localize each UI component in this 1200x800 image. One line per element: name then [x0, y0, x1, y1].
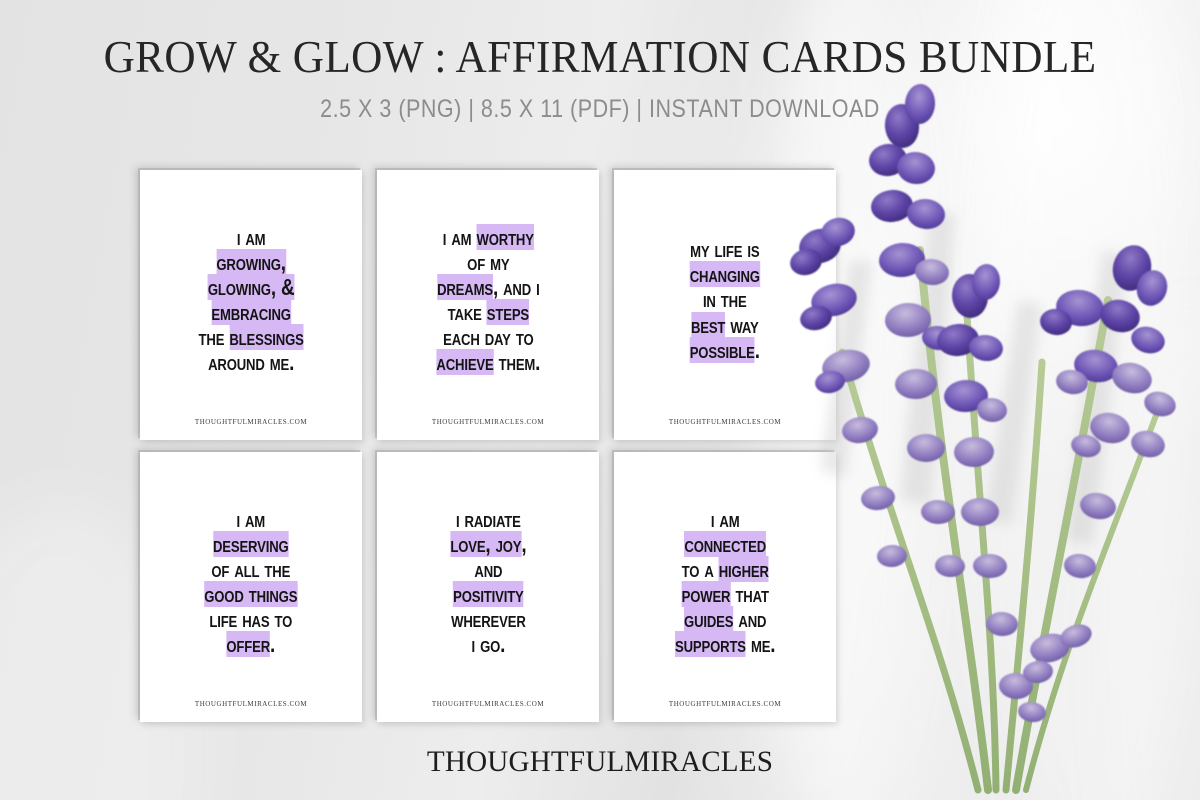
text-phrase: to a — [681, 556, 718, 582]
card-text-line: I am — [675, 507, 775, 532]
highlighted-phrase: possible — [690, 337, 755, 363]
text-phrase: way — [726, 312, 759, 338]
card-text-line: embracing — [198, 300, 303, 325]
card-text-line: possible. — [690, 338, 760, 363]
card-text-line: the blessings — [198, 325, 303, 350]
highlighted-phrase: achieve — [436, 349, 493, 375]
text-phrase: , and I — [493, 274, 540, 300]
card-footer-url: THOUGHTFULMIRACLES.COM — [140, 700, 362, 708]
text-phrase: wherever — [451, 606, 526, 632]
highlighted-phrase: power — [681, 581, 730, 607]
product-mockup-canvas: GROW & GLOW : AFFIRMATION CARDS BUNDLE 2… — [0, 0, 1200, 800]
text-phrase: me. — [746, 631, 776, 657]
card-text-line: and — [450, 557, 526, 582]
text-phrase: I go. — [471, 631, 505, 657]
card-text: I radiatelove, joy,andpositivitywherever… — [434, 507, 543, 657]
card-text-line: achieve them. — [436, 350, 540, 375]
highlighted-phrase: growing, — [216, 249, 286, 275]
highlighted-phrase: connected — [684, 531, 766, 557]
card-footer-url: THOUGHTFULMIRACLES.COM — [377, 418, 599, 426]
card-text-line: life has to — [204, 607, 297, 632]
text-phrase: . — [270, 631, 275, 657]
text-phrase: and — [474, 556, 502, 582]
card-text-line: connected — [675, 532, 775, 557]
text-phrase: my life is — [690, 236, 759, 262]
card-footer-url: THOUGHTFULMIRACLES.COM — [614, 700, 836, 708]
page-title: GROW & GLOW : AFFIRMATION CARDS BUNDLE — [36, 34, 1164, 81]
header: GROW & GLOW : AFFIRMATION CARDS BUNDLE 2… — [0, 34, 1200, 124]
card-text-line: best way — [690, 313, 760, 338]
affirmation-card[interactable]: I radiatelove, joy,andpositivitywherever… — [377, 452, 599, 722]
text-phrase: life has to — [210, 606, 293, 632]
text-phrase: and — [733, 606, 766, 632]
text-phrase: I am — [237, 506, 266, 532]
text-phrase: I am — [442, 224, 476, 250]
text-phrase: . — [755, 337, 760, 363]
highlighted-phrase: dreams — [437, 274, 493, 300]
highlighted-phrase: best — [691, 312, 725, 338]
card-text-line: of my — [436, 250, 540, 275]
card-text-line: take steps — [436, 300, 540, 325]
card-text-line: glowing, & — [198, 275, 303, 300]
affirmation-card[interactable]: I amgrowing,glowing, &embracingthe bless… — [140, 170, 362, 440]
affirmation-card[interactable]: I am worthyof mydreams, and Itake stepse… — [377, 170, 599, 440]
card-text-line: supports me. — [675, 632, 775, 657]
card-text-line: of all the — [204, 557, 297, 582]
affirmation-card[interactable]: I amconnectedto a higherpower thatguides… — [614, 452, 836, 722]
highlighted-phrase: supports — [675, 631, 746, 657]
card-text-line: dreams, and I — [436, 275, 540, 300]
card-text-line: deserving — [204, 532, 297, 557]
card-text-line: offer. — [204, 632, 297, 657]
affirmation-card[interactable]: my life ischangingin thebest waypossible… — [614, 170, 836, 440]
card-footer-url: THOUGHTFULMIRACLES.COM — [377, 700, 599, 708]
card-text: I amconnectedto a higherpower thatguides… — [656, 507, 794, 657]
card-text-line: I am — [198, 225, 303, 250]
card-text-line: good things — [204, 582, 297, 607]
highlighted-phrase: steps — [486, 299, 528, 325]
card-text-line: I go. — [450, 632, 526, 657]
highlighted-phrase: positivity — [453, 581, 524, 607]
card-text-line: in the — [690, 287, 760, 312]
highlighted-phrase: glowing, & — [208, 274, 295, 300]
text-phrase: each day to — [443, 324, 533, 350]
highlighted-phrase: deserving — [213, 531, 289, 557]
highlighted-phrase: offer — [227, 631, 271, 657]
card-text-line: to a higher — [675, 557, 775, 582]
card-text-line: guides and — [675, 607, 775, 632]
card-text-line: around me. — [198, 350, 303, 375]
card-text: my life ischangingin thebest waypossible… — [674, 237, 776, 362]
text-phrase: I am — [711, 506, 740, 532]
card-text-line: love, joy, — [450, 532, 526, 557]
card-text-line: changing — [690, 262, 760, 287]
highlighted-phrase: higher — [719, 556, 769, 582]
highlighted-phrase: good things — [204, 581, 297, 607]
text-phrase: the — [198, 324, 229, 350]
text-phrase: of my — [467, 249, 509, 275]
highlighted-phrase: love, joy — [450, 531, 521, 557]
highlighted-phrase: blessings — [229, 324, 303, 350]
text-phrase: of all the — [212, 556, 291, 582]
card-footer-url: THOUGHTFULMIRACLES.COM — [614, 418, 836, 426]
card-text-line: my life is — [690, 237, 760, 262]
text-phrase: in the — [703, 286, 747, 312]
text-phrase: I radiate — [456, 506, 521, 532]
brand-wordmark: THOUGHTFULMIRACLES — [18, 745, 1182, 779]
card-text: I amgrowing,glowing, &embracingthe bless… — [179, 225, 323, 375]
card-text-line: wherever — [450, 607, 526, 632]
highlighted-phrase: guides — [684, 606, 733, 632]
card-text-line: growing, — [198, 250, 303, 275]
highlighted-phrase: changing — [690, 261, 760, 287]
affirmation-card-grid: I amgrowing,glowing, &embracingthe bless… — [140, 170, 836, 722]
card-text-line: I am worthy — [436, 225, 540, 250]
card-text-line: I am — [204, 507, 297, 532]
card-text-line: power that — [675, 582, 775, 607]
highlighted-phrase: embracing — [211, 299, 290, 325]
text-phrase: that — [730, 581, 768, 607]
text-phrase: , — [521, 531, 526, 557]
text-phrase: I am — [237, 224, 266, 250]
card-text-line: positivity — [450, 582, 526, 607]
card-text: I am worthyof mydreams, and Itake stepse… — [417, 225, 560, 375]
text-phrase: them. — [493, 349, 540, 375]
affirmation-card[interactable]: I amdeservingof all thegood thingslife h… — [140, 452, 362, 722]
page-subtitle: 2.5 X 3 (PNG) | 8.5 X 11 (PDF) | INSTANT… — [84, 95, 1116, 124]
text-phrase: take — [447, 299, 486, 325]
card-text-line: each day to — [436, 325, 540, 350]
highlighted-phrase: worthy — [476, 224, 533, 250]
text-phrase: around me. — [208, 349, 294, 375]
card-footer-url: THOUGHTFULMIRACLES.COM — [140, 418, 362, 426]
card-text: I amdeservingof all thegood thingslife h… — [186, 507, 316, 657]
card-text-line: I radiate — [450, 507, 526, 532]
